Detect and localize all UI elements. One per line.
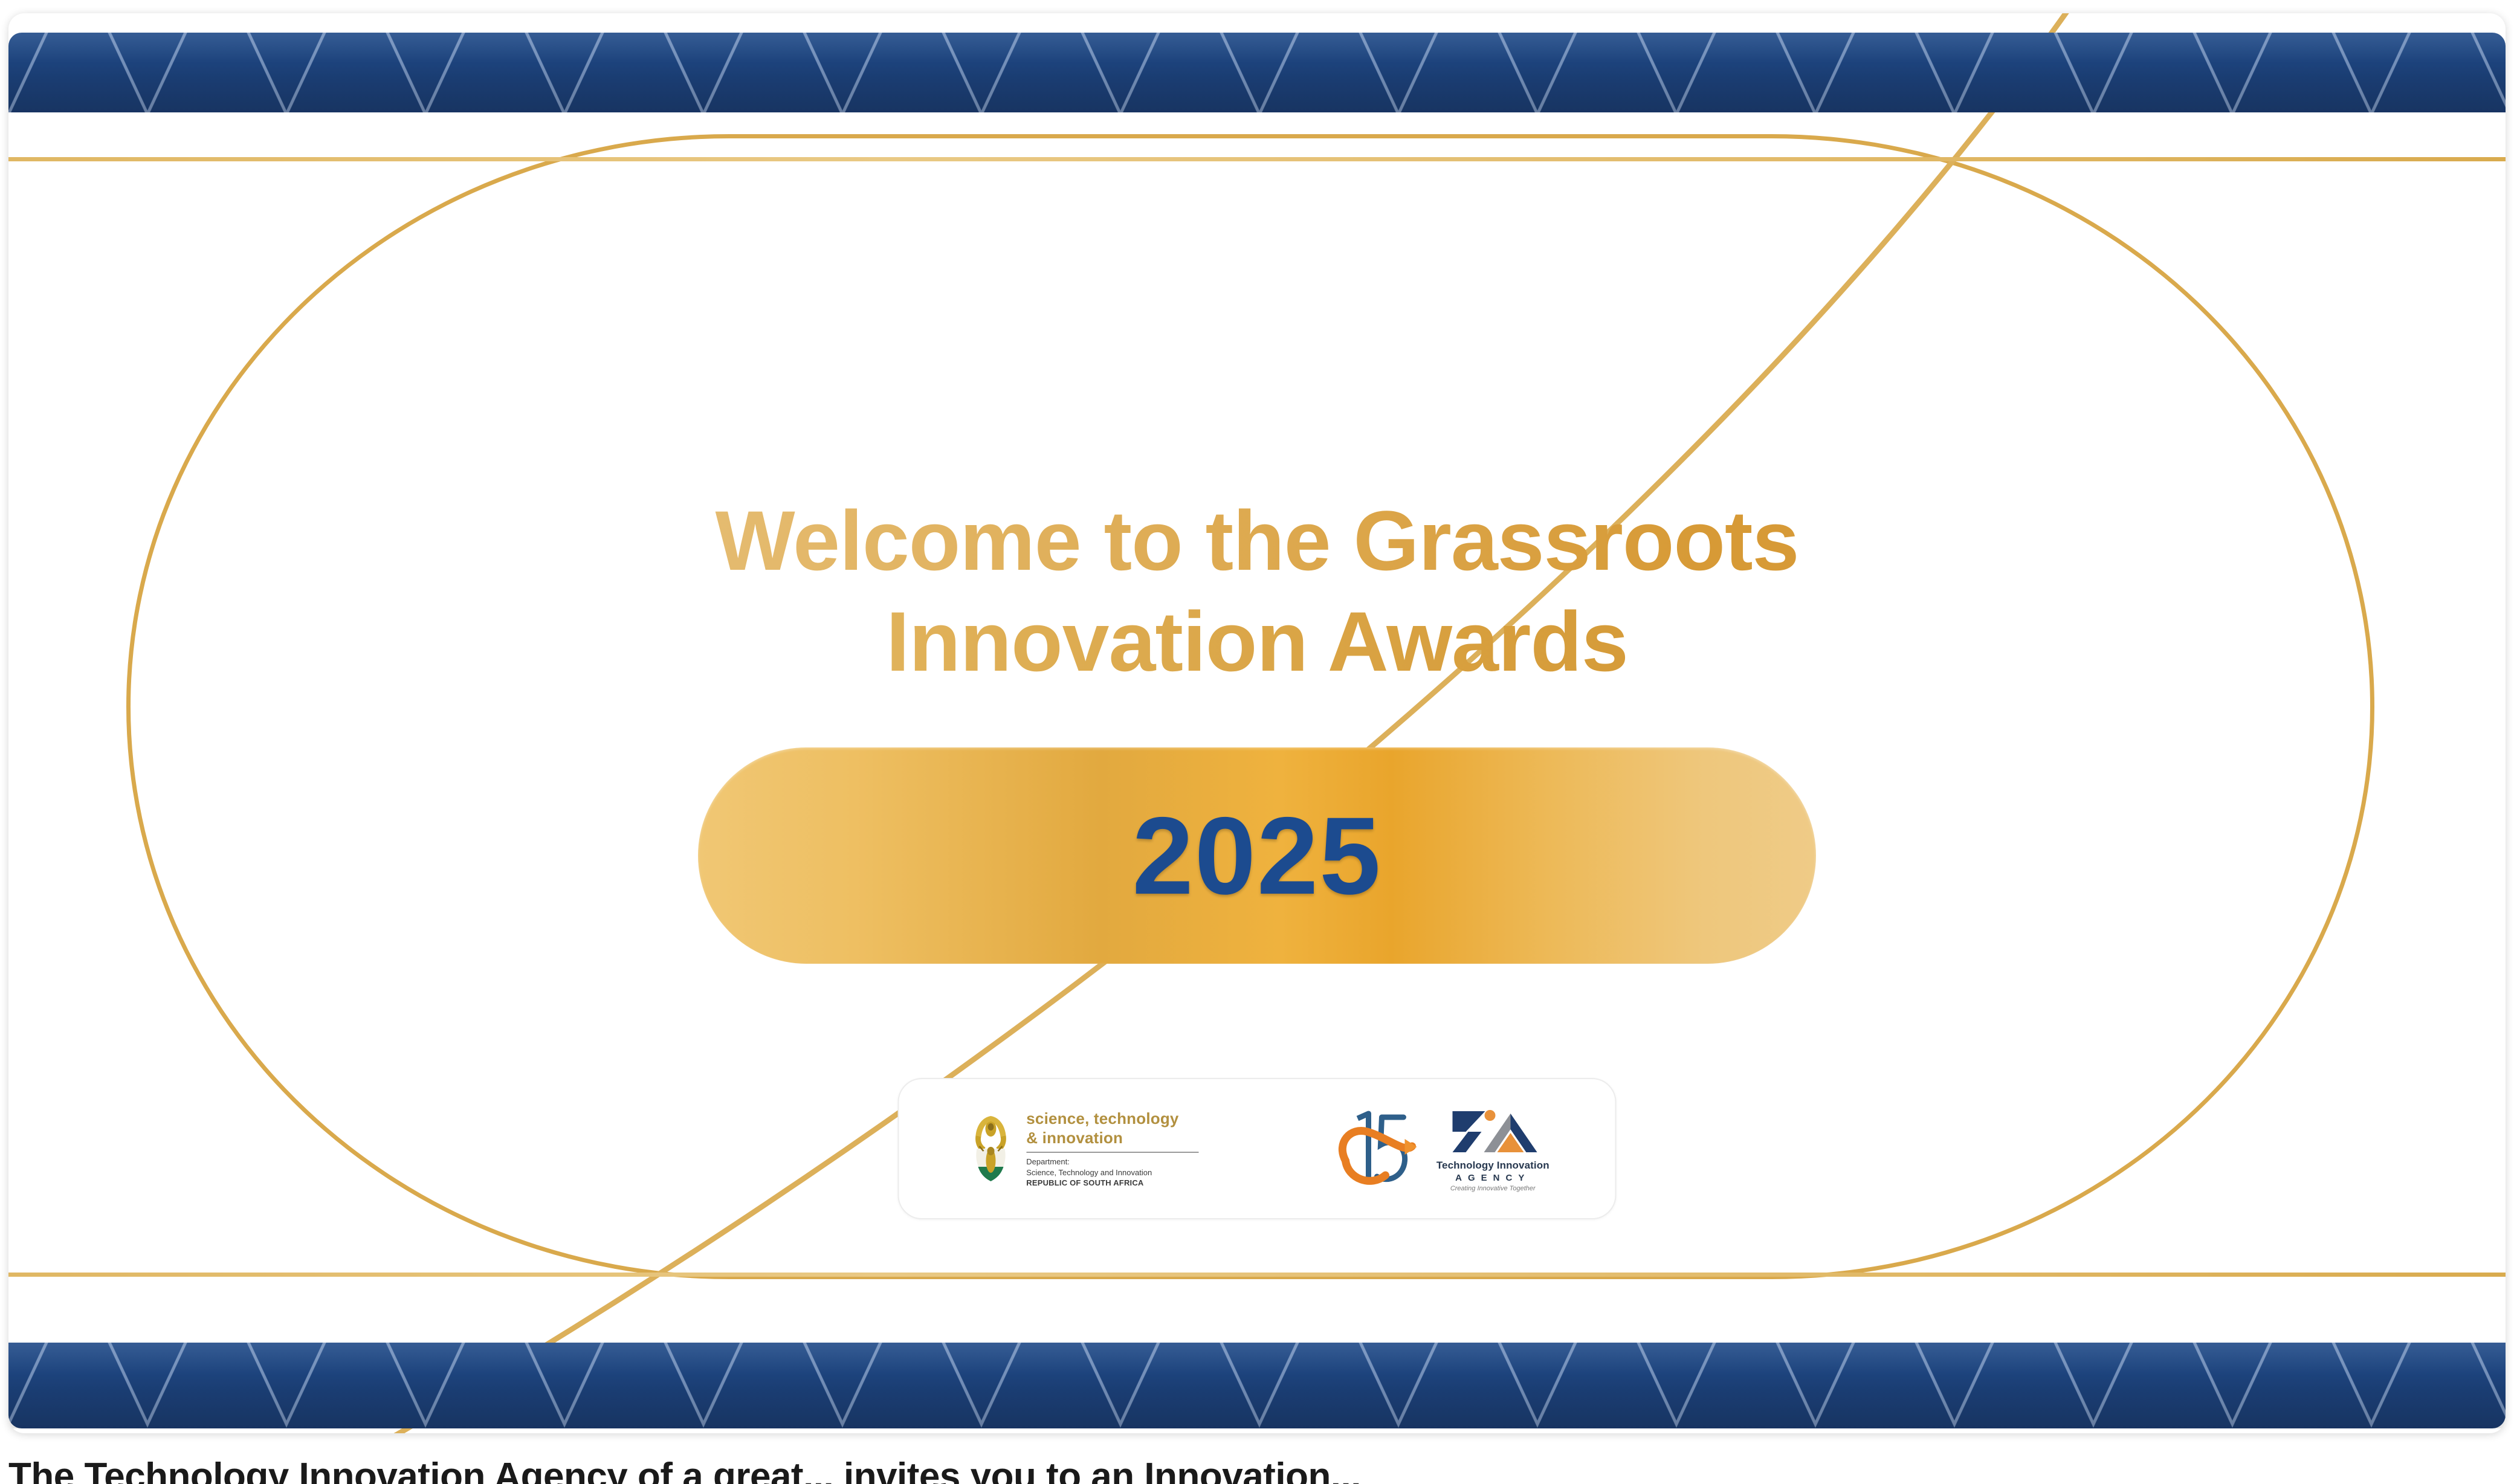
bottom-navy-band <box>8 1343 2506 1428</box>
tia-name: Technology Innovation <box>1436 1160 1549 1172</box>
top-navy-band <box>8 33 2506 112</box>
south-african-coat-of-arms-icon <box>965 1109 1016 1189</box>
year-badge-label: 2025 <box>1133 801 1382 911</box>
slide-title-block: Welcome to the Grassroots Innovation Awa… <box>8 491 2506 692</box>
dsti-sub-line-3: REPUBLIC OF SOUTH AFRICA <box>1026 1178 1198 1188</box>
dsti-wordmark: science, technology & innovation Departm… <box>1026 1109 1198 1188</box>
anniversary-15-icon <box>1330 1103 1421 1195</box>
presentation-slide: Welcome to the Grassroots Innovation Awa… <box>8 13 2506 1433</box>
band-sheen <box>8 33 2506 112</box>
dsti-divider <box>1026 1152 1198 1153</box>
logo-strip: science, technology & innovation Departm… <box>898 1078 1617 1219</box>
gold-horizontal-line-top <box>8 157 2506 161</box>
tia-chevron-icon <box>1447 1105 1538 1157</box>
dsti-wordmark-line-2: & innovation <box>1026 1129 1198 1148</box>
tia-agency-word: AGENCY <box>1455 1173 1530 1183</box>
page-body-text: The Technology Innovation Agency of a gr… <box>8 1455 2486 1484</box>
tia-logo-group: Technology Innovation AGENCY Creating In… <box>1330 1103 1549 1195</box>
gold-horizontal-line-bottom <box>8 1273 2506 1277</box>
slide-title-line-2: Innovation Awards <box>8 592 2506 692</box>
slide-viewer: Welcome to the Grassroots Innovation Awa… <box>0 0 2514 1484</box>
year-badge: 2025 <box>698 747 1816 964</box>
dsti-sub-line-1: Department: <box>1026 1157 1198 1167</box>
dsti-wordmark-line-1: science, technology <box>1026 1109 1198 1129</box>
tia-tagline: Creating Innovative Together <box>1450 1185 1536 1192</box>
tia-logo: Technology Innovation AGENCY Creating In… <box>1436 1105 1549 1192</box>
band-sheen <box>8 1343 2506 1428</box>
dsti-sub-line-2: Science, Technology and Innovation <box>1026 1167 1198 1178</box>
slide-title-line-1: Welcome to the Grassroots <box>8 491 2506 592</box>
dsti-logo: science, technology & innovation Departm… <box>965 1109 1198 1189</box>
